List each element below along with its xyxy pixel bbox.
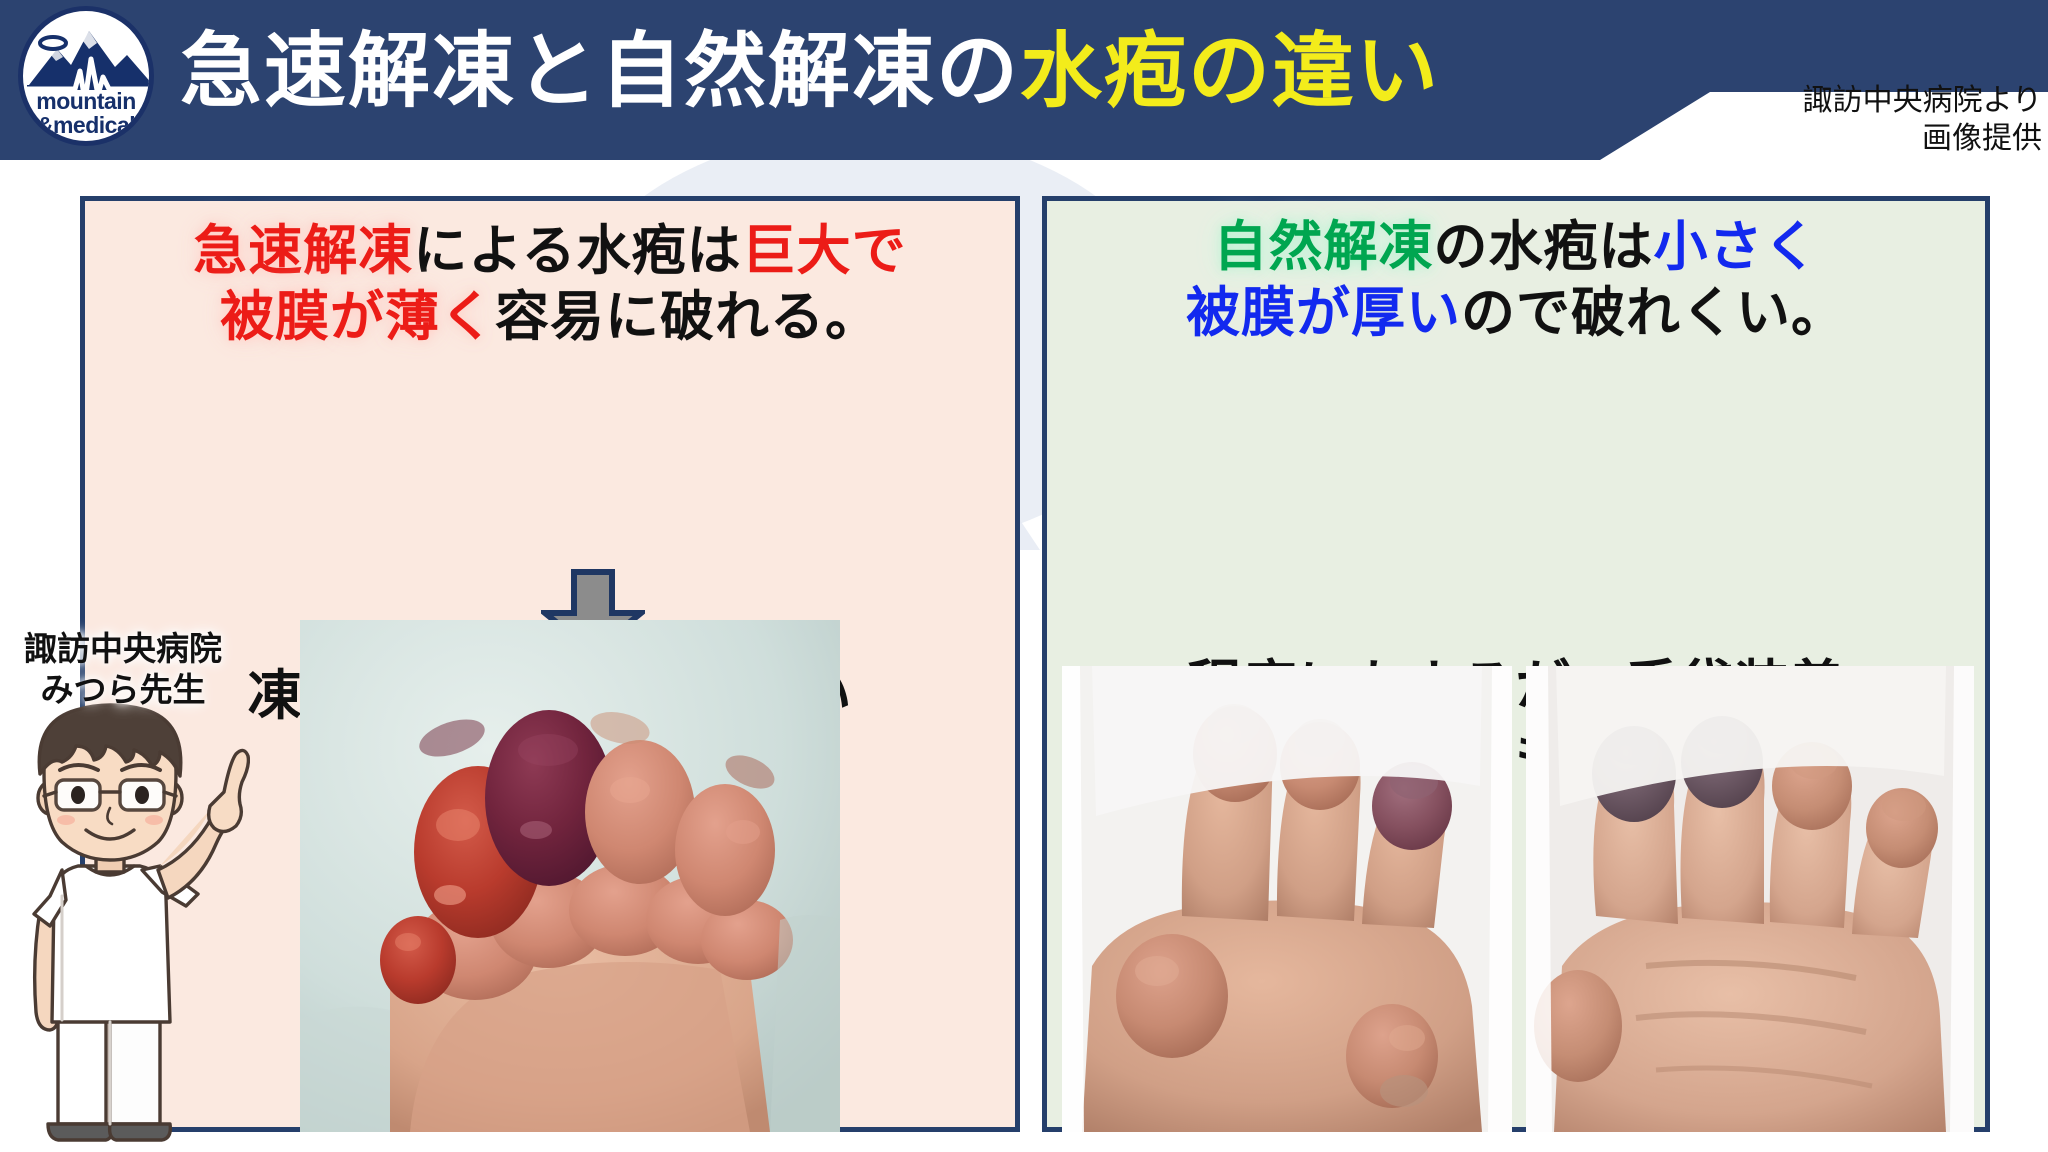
- doctor-label-line1: 諏訪中央病院: [8, 628, 238, 669]
- page-title-yellow-part: 水疱の違い: [1020, 4, 1440, 123]
- rapid-thaw-headline-line1: 急速解凍による水疱は巨大で: [85, 219, 1015, 285]
- natural-thaw-headline: 自然解凍の水疱は小さく 被膜が厚いので破れくい。: [1047, 215, 1985, 347]
- rapid-thaw-headline-seg2: による水疱は: [413, 221, 741, 281]
- frostbite-toes-image: [300, 620, 840, 1132]
- doctor-label: 諏訪中央病院 みつら先生: [8, 628, 238, 711]
- image-credit-line2: 画像提供: [1803, 120, 2042, 158]
- frostbite-hand-dorsal-image: [1062, 666, 1512, 1132]
- natural-thaw-headline-line1: 自然解凍の水疱は小さく: [1047, 215, 1985, 281]
- frostbite-toes-photo: [300, 620, 840, 1132]
- natural-thaw-emphasis-thick-membrane: 被膜が厚い: [1186, 283, 1461, 343]
- doctor-label-line2: みつら先生: [8, 669, 238, 710]
- frostbite-hand-dorsal-photo: [1062, 666, 1512, 1132]
- doctor-illustration: [10, 700, 250, 1152]
- rapid-thaw-headline-line2: 被膜が薄く容易に破れる。: [85, 285, 1015, 351]
- natural-thaw-emphasis-small: 小さく: [1654, 217, 1819, 277]
- page-title-white-part: 急速解凍と自然解凍の: [180, 4, 1020, 123]
- natural-thaw-headline-line2: 被膜が厚いので破れくい。: [1047, 281, 1985, 347]
- rapid-thaw-term: 急速解凍: [193, 221, 413, 281]
- frostbite-hand-palmar-image: [1526, 666, 1974, 1132]
- rapid-thaw-headline: 急速解凍による水疱は巨大で 被膜が薄く容易に破れる。: [85, 219, 1015, 351]
- natural-thaw-headline-seg5: ので破れくい。: [1461, 283, 1846, 343]
- frostbite-hand-palmar-photo: [1526, 666, 1974, 1132]
- brand-logo-text: mountain &medical: [23, 90, 149, 137]
- rapid-thaw-headline-seg5: 容易に破れる。: [495, 287, 880, 347]
- natural-thaw-term: 自然解凍: [1214, 217, 1434, 277]
- page-title: 急速解凍と自然解凍の水疱の違い: [180, 8, 1440, 118]
- natural-thaw-headline-seg2: の水疱は: [1434, 217, 1654, 277]
- rapid-thaw-emphasis-huge: 巨大で: [742, 221, 907, 281]
- rapid-thaw-emphasis-thin-membrane: 被膜が薄く: [220, 287, 495, 347]
- brand-logo-line2: &medical: [23, 114, 149, 137]
- brand-logo[interactable]: mountain &medical: [18, 6, 154, 146]
- brand-logo-line1: mountain: [23, 90, 149, 113]
- page-header: mountain &medical 急速解凍と自然解凍の水疱の違い 諏訪中央病院…: [0, 0, 2048, 160]
- image-credit: 諏訪中央病院より 画像提供: [1803, 82, 2042, 159]
- image-credit-line1: 諏訪中央病院より: [1803, 82, 2042, 120]
